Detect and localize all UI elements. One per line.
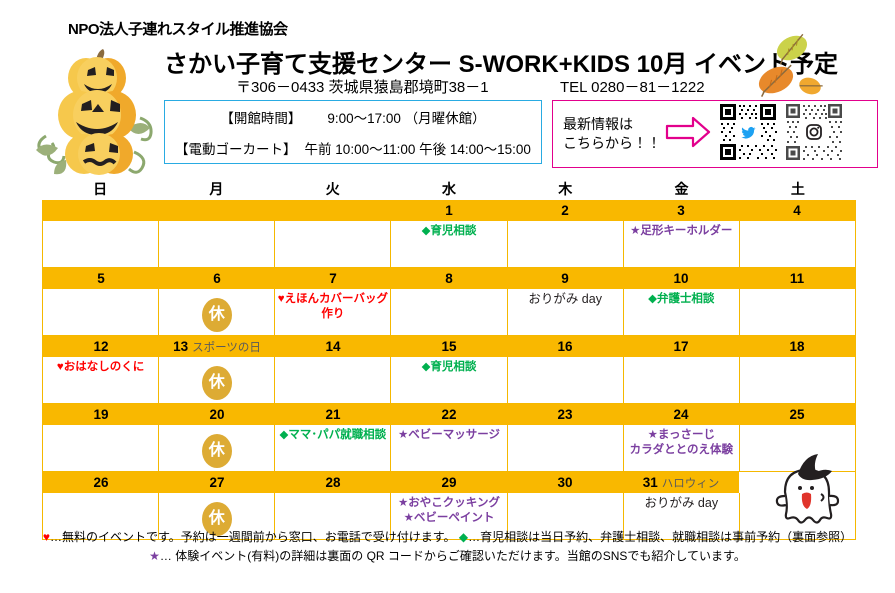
event-label[interactable]: カラダととのえ体験 xyxy=(624,443,739,458)
date-number: 3 xyxy=(677,203,685,218)
date-number-cell: 24 xyxy=(623,404,739,425)
star-icon: ★ xyxy=(149,549,160,563)
date-number-cell: 4 xyxy=(739,200,855,221)
qr-code-box: 最新情報は こちらから！！ xyxy=(552,100,878,168)
holiday-label: スポーツの日 xyxy=(192,342,261,354)
date-number-cell: 18 xyxy=(739,336,855,357)
day-cell[interactable]: おりがみ day xyxy=(508,289,624,335)
holiday-label: ハロウィン xyxy=(662,478,720,490)
diamond-icon: ◆ xyxy=(459,530,468,544)
date-number: 8 xyxy=(445,271,453,286)
calendar-week: 19202122232425休◆ママ･パパ就職相談★ベビーマッサージ★まっさーじ… xyxy=(42,404,856,472)
day-cell[interactable] xyxy=(740,221,855,267)
date-number: 4 xyxy=(793,203,801,218)
date-number-cell: 28 xyxy=(275,472,391,493)
date-number: 17 xyxy=(673,339,688,354)
date-number-cell: 9 xyxy=(507,268,623,289)
date-number-cell xyxy=(159,200,275,221)
day-cell[interactable] xyxy=(43,221,159,267)
date-number: 30 xyxy=(557,475,572,490)
telephone-text: TEL 0280－81－1222 xyxy=(560,76,705,97)
day-cell[interactable]: ★まっさーじカラダととのえ体験 xyxy=(624,425,740,471)
date-number-cell: 13スポーツの日 xyxy=(159,336,275,357)
date-number: 19 xyxy=(93,407,108,422)
event-label[interactable]: ◆ママ･パパ就職相談 xyxy=(275,428,390,443)
date-number-cell: 16 xyxy=(507,336,623,357)
date-number: 21 xyxy=(325,407,340,422)
instagram-qr-code[interactable] xyxy=(783,101,845,168)
date-number: 20 xyxy=(209,407,224,422)
date-number-cell: 29 xyxy=(391,472,507,493)
opening-hours-value: 9:00～17:00 （月曜休館） xyxy=(327,107,485,127)
ghost-with-witch-hat-illustration xyxy=(752,452,862,530)
week-event-row: 休◆ママ･パパ就職相談★ベビーマッサージ★まっさーじカラダととのえ体験 xyxy=(43,425,855,472)
autumn-leaves-illustration xyxy=(752,28,882,103)
event-label[interactable]: ★おやこクッキング xyxy=(391,496,506,511)
date-number-cell: 7 xyxy=(275,268,391,289)
day-cell[interactable]: ♥えほんカバーバッグ作り xyxy=(275,289,391,335)
day-cell[interactable] xyxy=(43,425,159,471)
footnote-paid-events-text: … 体験イベント(有料)の詳細は裏面の QR コードからご確認いただけます。当館… xyxy=(160,549,746,563)
date-number-cell: 6 xyxy=(159,268,275,289)
event-label[interactable]: 作り xyxy=(275,307,390,322)
twitter-qr-code[interactable] xyxy=(717,101,779,168)
date-number: 1 xyxy=(445,203,453,218)
calendar-week: 567891011休♥えほんカバーバッグ作りおりがみ day◆弁護士相談 xyxy=(42,268,856,336)
week-date-row: 567891011 xyxy=(43,268,855,289)
day-cell[interactable] xyxy=(159,221,275,267)
week-date-row: 1234 xyxy=(43,200,855,221)
day-cell[interactable] xyxy=(508,425,624,471)
day-cell[interactable] xyxy=(740,289,855,335)
date-number: 10 xyxy=(673,271,688,286)
date-number-cell: 30 xyxy=(507,472,623,493)
date-number: 9 xyxy=(561,271,569,286)
date-number: 7 xyxy=(329,271,337,286)
event-label[interactable]: ★ベビーペイント xyxy=(391,511,506,526)
event-label[interactable]: ★まっさーじ xyxy=(624,428,739,443)
gokart-value: 午前 10:00～11:00 午後 14:00～15:00 xyxy=(305,138,531,158)
date-number: 25 xyxy=(789,407,804,422)
day-cell[interactable]: ♥おはなしのくに xyxy=(43,357,159,403)
qr-prompt-line1: 最新情報は xyxy=(563,115,661,134)
day-cell[interactable]: ★ベビーマッサージ xyxy=(391,425,507,471)
day-cell[interactable]: 休 xyxy=(159,289,275,335)
date-number-cell: 17 xyxy=(623,336,739,357)
dow-mon: 月 xyxy=(158,178,274,200)
date-number: 29 xyxy=(441,475,456,490)
event-label[interactable]: ◆育児相談 xyxy=(391,224,506,239)
day-cell[interactable]: ◆ママ･パパ就職相談 xyxy=(275,425,391,471)
date-number: 26 xyxy=(93,475,108,490)
date-number: 18 xyxy=(789,339,804,354)
date-number-cell: 5 xyxy=(43,268,159,289)
day-cell[interactable] xyxy=(624,357,740,403)
date-number-cell xyxy=(43,200,159,221)
calendar-week: 1213スポーツの日1415161718♥おはなしのくに休◆育児相談 xyxy=(42,336,856,404)
date-number-cell: 1 xyxy=(391,200,507,221)
event-label[interactable]: ★足形キーホルダー xyxy=(624,224,739,239)
day-cell[interactable] xyxy=(391,289,507,335)
event-label[interactable]: ♥おはなしのくに xyxy=(43,360,158,375)
week-date-row: 1213スポーツの日1415161718 xyxy=(43,336,855,357)
gokart-label: 【電動ゴーカート】 xyxy=(175,138,297,158)
address-text: 〒306－0433 茨城県猿島郡境町38－1 xyxy=(236,76,489,97)
date-number-cell: 21 xyxy=(275,404,391,425)
day-cell[interactable] xyxy=(43,289,159,335)
date-number: 22 xyxy=(441,407,456,422)
date-number: 24 xyxy=(673,407,688,422)
date-number-cell: 19 xyxy=(43,404,159,425)
date-number-cell: 14 xyxy=(275,336,391,357)
footnote-free-events-text: …無料のイベントです。予約は一週間前から窓口、お電話で受け付けます。 xyxy=(50,530,456,544)
footnote-line-1: ♥…無料のイベントです。予約は一週間前から窓口、お電話で受け付けます。 ◆…育児… xyxy=(0,528,895,547)
closed-badge: 休 xyxy=(202,434,232,468)
dow-fri: 金 xyxy=(623,178,739,200)
week-event-row: ◆育児相談★足形キーホルダー xyxy=(43,221,855,268)
date-number-cell: 25 xyxy=(739,404,855,425)
date-number-cell: 23 xyxy=(507,404,623,425)
date-number-cell: 22 xyxy=(391,404,507,425)
date-number: 5 xyxy=(97,271,105,286)
gokart-row: 【電動ゴーカート】 午前 10:00～11:00 午後 14:00～15:00 xyxy=(165,132,541,163)
date-number: 13 xyxy=(173,339,188,354)
week-date-row: 19202122232425 xyxy=(43,404,855,425)
heart-icon: ♥ xyxy=(43,530,50,544)
day-cell[interactable] xyxy=(740,357,855,403)
date-number-cell: 3 xyxy=(623,200,739,221)
date-number: 12 xyxy=(93,339,108,354)
closed-badge: 休 xyxy=(202,366,232,400)
date-number: 2 xyxy=(561,203,569,218)
date-number: 16 xyxy=(557,339,572,354)
footnote-legend: ♥…無料のイベントです。予約は一週間前から窓口、お電話で受け付けます。 ◆…育児… xyxy=(0,528,895,566)
date-number-cell: 27 xyxy=(159,472,275,493)
event-label[interactable]: ★ベビーマッサージ xyxy=(391,428,506,443)
info-box: 【開館時間】 9:00～17:00 （月曜休館） 【電動ゴーカート】 午前 10… xyxy=(164,100,542,164)
date-number-cell: 10 xyxy=(623,268,739,289)
date-number: 23 xyxy=(557,407,572,422)
date-number: 31 xyxy=(643,475,658,490)
date-number-cell: 11 xyxy=(739,268,855,289)
day-cell[interactable] xyxy=(508,221,624,267)
dow-wed: 水 xyxy=(391,178,507,200)
date-number: 27 xyxy=(209,475,224,490)
calendar-week: 1234◆育児相談★足形キーホルダー xyxy=(42,200,856,268)
week-event-row: ♥おはなしのくに休◆育児相談 xyxy=(43,357,855,404)
week-event-row: 休♥えほんカバーバッグ作りおりがみ day◆弁護士相談 xyxy=(43,289,855,336)
day-cell[interactable]: ◆育児相談 xyxy=(391,221,507,267)
date-number-cell: 8 xyxy=(391,268,507,289)
qr-prompt-line2: こちらから！！ xyxy=(563,134,661,153)
date-number: 11 xyxy=(790,271,804,286)
page-header: NPO法人子連れスタイル推進協会 さかい子育て支援センター S-WORK+KID… xyxy=(0,0,895,180)
qr-prompt-text: 最新情報は こちらから！！ xyxy=(563,115,661,153)
event-label[interactable]: ◆育児相談 xyxy=(391,360,506,375)
dow-sun: 日 xyxy=(42,178,158,200)
date-number-cell: 26 xyxy=(43,472,159,493)
dow-tue: 火 xyxy=(275,178,391,200)
date-number: 6 xyxy=(213,271,221,286)
date-number-cell: 31ハロウィン xyxy=(623,472,739,493)
dow-thu: 木 xyxy=(507,178,623,200)
footnote-line-2: ★… 体験イベント(有料)の詳細は裏面の QR コードからご確認いただけます。当… xyxy=(0,547,895,566)
date-number-cell: 15 xyxy=(391,336,507,357)
footnote-consultation-text: …育児相談は当日予約、弁護士相談、就職相談は事前予約（裏面参照） xyxy=(468,530,852,544)
day-cell[interactable]: ★足形キーホルダー xyxy=(624,221,740,267)
jack-o-lantern-illustration xyxy=(22,40,172,180)
event-label[interactable]: ♥えほんカバーバッグ xyxy=(275,292,390,307)
day-cell[interactable] xyxy=(508,357,624,403)
dow-sat: 土 xyxy=(740,178,856,200)
day-cell[interactable]: ◆弁護士相談 xyxy=(624,289,740,335)
day-cell[interactable]: ◆育児相談 xyxy=(391,357,507,403)
opening-hours-label: 【開館時間】 xyxy=(220,107,301,127)
date-number-cell xyxy=(275,200,391,221)
event-label[interactable]: おりがみ day xyxy=(508,292,623,307)
opening-hours-row: 【開館時間】 9:00～17:00 （月曜休館） xyxy=(165,101,541,132)
day-of-week-header: 日 月 火 水 木 金 土 xyxy=(42,178,856,200)
date-number-cell: 12 xyxy=(43,336,159,357)
page-title: さかい子育て支援センター S-WORK+KIDS 10月 イベント予定 xyxy=(164,44,838,79)
calendar-weeks: 1234◆育児相談★足形キーホルダー567891011休♥えほんカバーバッグ作り… xyxy=(42,200,856,540)
day-cell[interactable]: 休 xyxy=(159,425,275,471)
event-calendar: 日 月 火 水 木 金 土 1234◆育児相談★足形キーホルダー56789101… xyxy=(42,178,856,540)
closed-badge: 休 xyxy=(202,298,232,332)
arrow-right-icon xyxy=(665,115,711,154)
date-number: 28 xyxy=(325,475,340,490)
date-number-cell: 2 xyxy=(507,200,623,221)
week-date-row: 262728293031ハロウィン xyxy=(43,472,855,493)
day-cell[interactable]: 休 xyxy=(159,357,275,403)
organization-name: NPO法人子連れスタイル推進協会 xyxy=(68,18,288,39)
day-cell[interactable] xyxy=(275,357,391,403)
date-number: 14 xyxy=(325,339,340,354)
event-label[interactable]: ◆弁護士相談 xyxy=(624,292,739,307)
date-number-cell: 20 xyxy=(159,404,275,425)
date-number: 15 xyxy=(441,339,456,354)
day-cell[interactable] xyxy=(275,221,391,267)
event-label[interactable]: おりがみ day xyxy=(624,496,739,511)
